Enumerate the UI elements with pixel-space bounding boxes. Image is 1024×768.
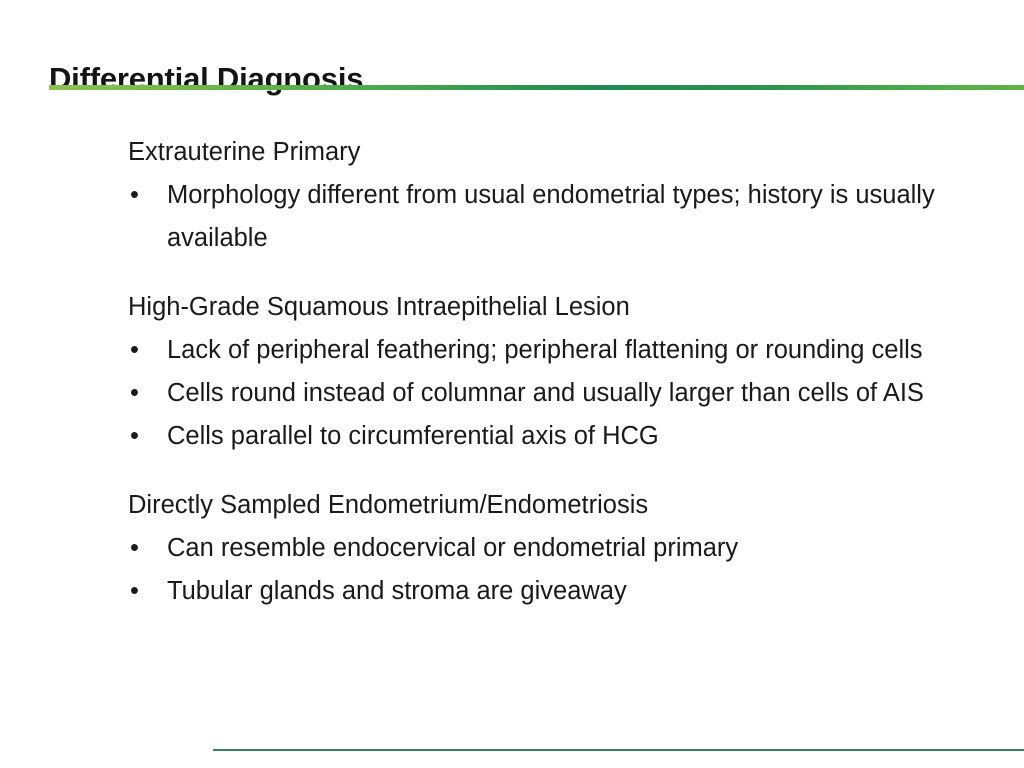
list-item-text: Cells parallel to circumferential axis o… [167, 415, 968, 458]
slide-body: Extrauterine Primary • Morphology differ… [128, 131, 968, 613]
bullet-dot-icon: • [130, 570, 146, 613]
list-item: • Tubular glands and stroma are giveaway [128, 570, 968, 613]
section-heading: Directly Sampled Endometrium/Endometrios… [128, 484, 968, 527]
section-extrauterine-primary: Extrauterine Primary • Morphology differ… [128, 131, 968, 260]
title-underline-rule [49, 85, 1024, 90]
list-item: • Lack of peripheral feathering; periphe… [128, 329, 968, 372]
section-heading: Extrauterine Primary [128, 131, 968, 174]
list-item: • Cells parallel to circumferential axis… [128, 415, 968, 458]
section-heading: High-Grade Squamous Intraepithelial Lesi… [128, 286, 968, 329]
list-item-text: Can resemble endocervical or endometrial… [167, 527, 968, 570]
list-item-text: Cells round instead of columnar and usua… [167, 372, 968, 415]
list-item-text: Lack of peripheral feathering; periphera… [167, 329, 968, 372]
bullet-list: • Morphology different from usual endome… [128, 174, 968, 260]
bullet-dot-icon: • [130, 527, 146, 570]
bullet-list: • Can resemble endocervical or endometri… [128, 527, 968, 613]
bullet-dot-icon: • [130, 415, 146, 458]
list-item: • Morphology different from usual endome… [128, 174, 968, 260]
page-title: Differential Diagnosis [49, 61, 363, 97]
slide: Differential Diagnosis Extrauterine Prim… [0, 0, 1024, 768]
list-item: • Cells round instead of columnar and us… [128, 372, 968, 415]
list-item-text: Tubular glands and stroma are giveaway [167, 570, 968, 613]
list-item-text: Morphology different from usual endometr… [167, 174, 968, 260]
bullet-dot-icon: • [130, 329, 146, 372]
list-item: • Can resemble endocervical or endometri… [128, 527, 968, 570]
bullet-dot-icon: • [130, 372, 146, 415]
bullet-list: • Lack of peripheral feathering; periphe… [128, 329, 968, 458]
bullet-dot-icon: • [130, 174, 146, 217]
section-directly-sampled-endometrium: Directly Sampled Endometrium/Endometrios… [128, 484, 968, 613]
section-hsil: High-Grade Squamous Intraepithelial Lesi… [128, 286, 968, 458]
footer-rule [213, 749, 1024, 751]
